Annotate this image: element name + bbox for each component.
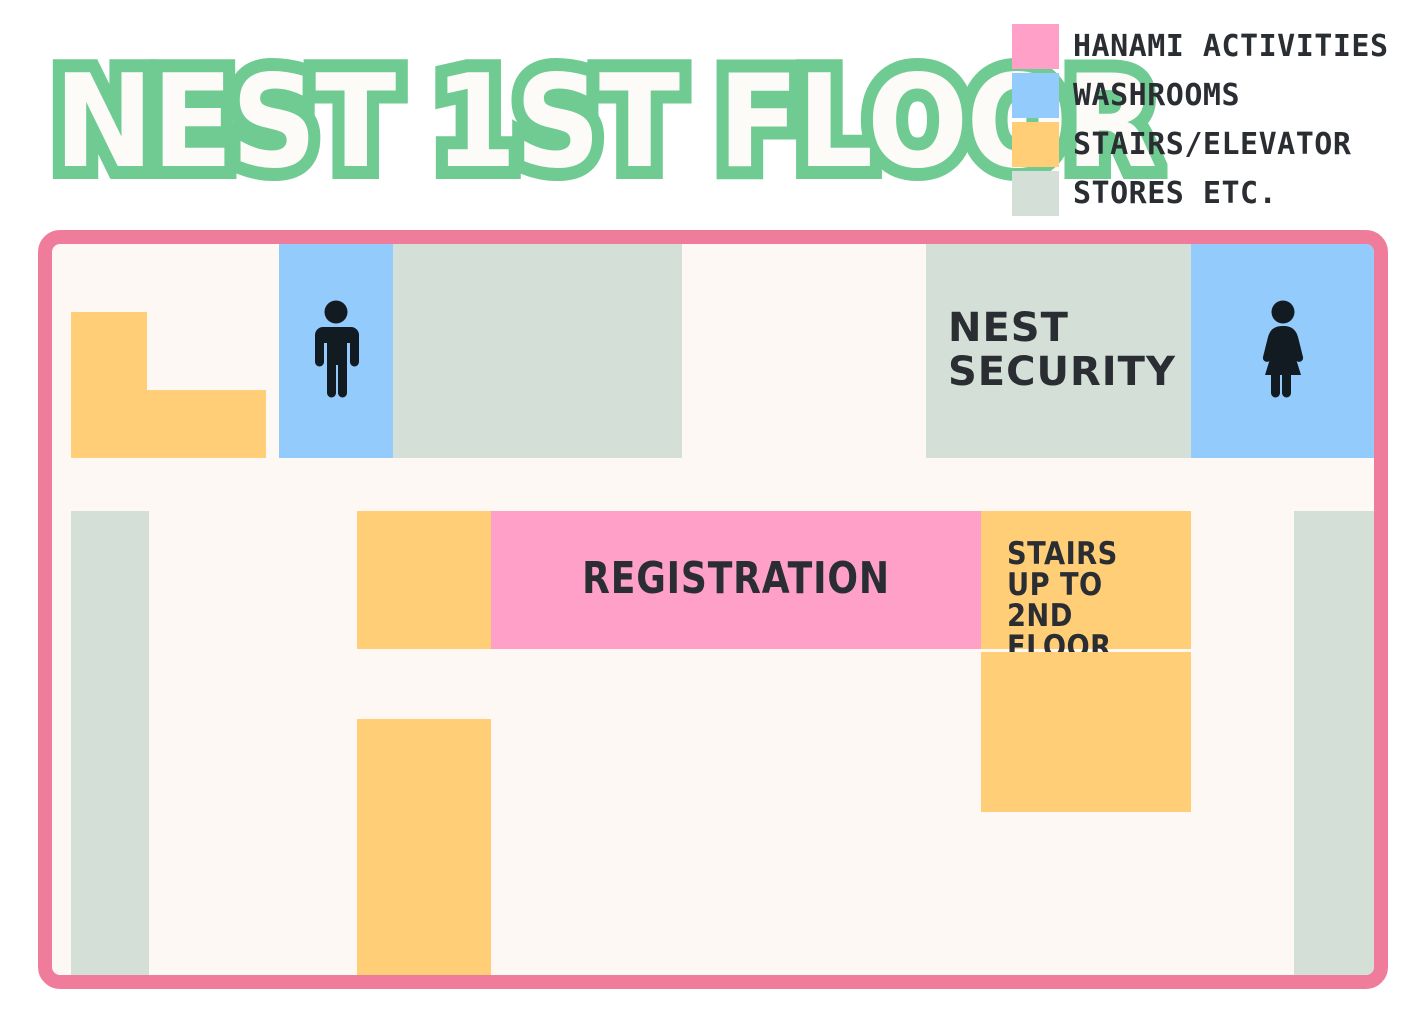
- legend: HANAMI ACTIVITIES WASHROOMS STAIRS/ELEVA…: [1012, 24, 1395, 216]
- zone-registration: REGISTRATION: [491, 511, 981, 649]
- legend-swatch-stores-etc: [1012, 171, 1059, 216]
- zone-stairs-lower-left: [357, 719, 491, 989]
- legend-label-washrooms: WASHROOMS: [1073, 73, 1395, 118]
- legend-item-stores-etc: STORES ETC.: [1012, 171, 1395, 216]
- legend-label-stairs-elevator: STAIRS/ELEVATOR: [1073, 122, 1395, 167]
- zone-womens-washroom: [1191, 244, 1374, 458]
- zone-stairs-up-to-2nd-floor: STAIRS UP TO 2ND FLOOR: [981, 511, 1191, 649]
- legend-item-stairs-elevator: STAIRS/ELEVATOR: [1012, 122, 1395, 167]
- legend-swatch-hanami-activities: [1012, 24, 1059, 69]
- zone-nest-security: NEST SECURITY: [926, 244, 1191, 458]
- legend-label-hanami-activities: HANAMI ACTIVITIES: [1073, 24, 1395, 69]
- zone-stairs-registration-left: [357, 511, 491, 649]
- zone-label-nest-security: NEST SECURITY: [948, 306, 1176, 394]
- zone-store-top-left: [393, 244, 682, 458]
- floorplan-canvas: NEST SECURITY REGISTRATION STAIRS UP TO …: [52, 244, 1374, 975]
- womens-washroom-icon: [1251, 300, 1315, 402]
- zone-mens-washroom: [279, 244, 393, 458]
- mens-washroom-icon: [305, 300, 367, 402]
- zone-store-right-strip: [1294, 511, 1374, 989]
- legend-item-washrooms: WASHROOMS: [1012, 73, 1395, 118]
- zone-stairs-top-left-horizontal: [71, 390, 266, 458]
- zone-label-stairs-up: STAIRS UP TO 2ND FLOOR: [1007, 539, 1169, 663]
- legend-swatch-washrooms: [1012, 73, 1059, 118]
- zone-label-registration: REGISTRATION: [535, 553, 937, 605]
- legend-swatch-stairs-elevator: [1012, 122, 1059, 167]
- zone-elevator-lower-right: [981, 652, 1191, 812]
- page-title: NEST 1ST FLOOR: [54, 48, 1155, 198]
- legend-label-stores-etc: STORES ETC.: [1073, 171, 1395, 216]
- title-block: NEST 1ST FLOOR: [44, 40, 864, 215]
- legend-item-hanami-activities: HANAMI ACTIVITIES: [1012, 24, 1395, 69]
- zone-store-left-strip: [71, 511, 149, 989]
- floorplan-map: NEST SECURITY REGISTRATION STAIRS UP TO …: [38, 230, 1388, 989]
